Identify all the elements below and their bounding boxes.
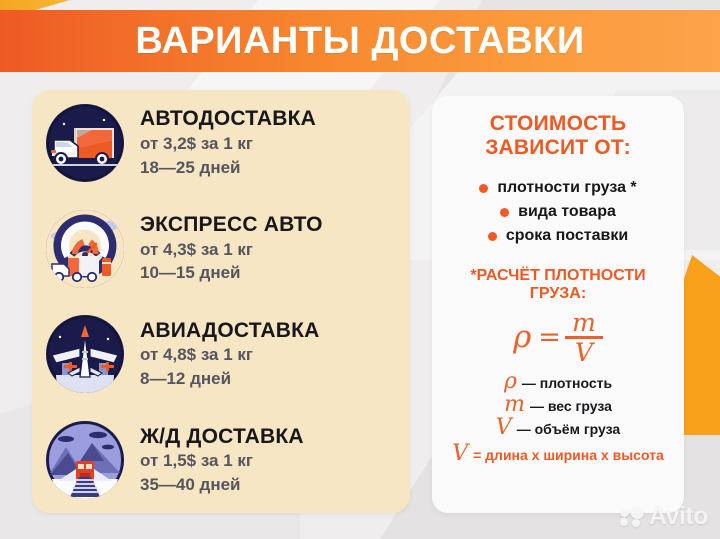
cost-factors-list: плотности груза * вида товара срока пост… xyxy=(442,179,674,245)
formula-fraction: m V xyxy=(565,310,603,365)
delivery-option-row[interactable]: АВТОДОСТАВКА от 3,2$ за 1 кг 18—25 дней xyxy=(32,90,410,196)
delivery-option-title: Ж/Д ДОСТАВКА xyxy=(140,425,304,449)
speedometer-truck-icon xyxy=(46,210,124,288)
header-banner: ВАРИАНТЫ ДОСТАВКИ xyxy=(0,10,720,72)
delivery-option-title: АВТОДОСТАВКА xyxy=(140,107,316,131)
list-item: плотности груза * xyxy=(442,179,674,197)
formula-equals-sign: = xyxy=(538,322,561,353)
cost-factor-label: срока поставки xyxy=(506,227,628,245)
delivery-option-text: Ж/Д ДОСТАВКА от 1,5$ за 1 кг 35—40 дней xyxy=(140,425,304,496)
delivery-option-duration: 8—12 дней xyxy=(140,368,320,390)
avito-logo-icon xyxy=(620,506,646,528)
delivery-option-row[interactable]: ЭКСПРЕСС АВТО от 4,3$ за 1 кг 10—15 дней xyxy=(32,196,410,302)
delivery-option-price: от 4,3$ за 1 кг xyxy=(140,239,323,261)
legend-symbol: m xyxy=(504,394,525,416)
formula-rho-symbol: ρ xyxy=(513,322,531,353)
formula-numerator: m xyxy=(572,310,596,336)
page-title: ВАРИАНТЫ ДОСТАВКИ xyxy=(135,20,584,63)
formula-legend: ρ — плотность m — вес груза V — объём гр… xyxy=(442,371,674,465)
cost-factors-card: СТОИМОСТЬ ЗАВИСИТ ОТ: плотности груза * … xyxy=(432,96,684,513)
legend-symbol: V xyxy=(496,417,512,439)
delivery-option-duration: 18—25 дней xyxy=(140,157,316,179)
formula-denominator: V xyxy=(575,339,593,365)
delivery-option-title: ЭКСПРЕСС АВТО xyxy=(140,213,323,237)
delivery-option-duration: 35—40 дней xyxy=(140,474,304,496)
delivery-option-text: АВТОДОСТАВКА от 3,2$ за 1 кг 18—25 дней xyxy=(140,107,316,178)
delivery-options-card: АВТОДОСТАВКА от 3,2$ за 1 кг 18—25 дней xyxy=(32,90,410,513)
delivery-option-title: АВИАДОСТАВКА xyxy=(140,319,320,343)
legend-description: — объём груза xyxy=(517,421,621,437)
bullet-dot-icon xyxy=(479,184,488,193)
avito-logo-dot xyxy=(620,518,628,526)
delivery-option-price: от 3,2$ за 1 кг xyxy=(140,133,316,155)
delivery-option-price: от 4,8$ за 1 кг xyxy=(140,344,320,366)
legend-item: m — вес груза xyxy=(442,394,674,416)
avito-logo-dot xyxy=(620,508,629,517)
delivery-option-text: АВИАДОСТАВКА от 4,8$ за 1 кг 8—12 дней xyxy=(140,319,320,390)
legend-symbol: ρ xyxy=(504,371,517,393)
legend-item: V — объём груза xyxy=(442,417,674,439)
volume-symbol: V xyxy=(452,443,468,465)
cost-factor-label: плотности груза * xyxy=(497,179,636,197)
legend-description: — вес груза xyxy=(530,398,612,414)
legend-item: ρ — плотность xyxy=(442,371,674,393)
avito-logo-dot xyxy=(632,519,640,527)
cost-panel-title-line2: ЗАВИСИТ ОТ: xyxy=(442,136,674,160)
delivery-option-row[interactable]: Ж/Д ДОСТАВКА от 1,5$ за 1 кг 35—40 дней xyxy=(32,407,410,513)
cost-panel-title-line1: СТОИМОСТЬ xyxy=(442,112,674,136)
infographic-canvas: ВАРИАНТЫ ДОСТАВКИ xyxy=(0,0,720,539)
bullet-dot-icon xyxy=(488,232,497,241)
delivery-option-duration: 10—15 дней xyxy=(140,262,323,284)
avito-logo-dot xyxy=(631,506,644,519)
delivery-option-row[interactable]: АВИАДОСТАВКА от 4,8$ за 1 кг 8—12 дней xyxy=(32,302,410,408)
list-item: вида товара xyxy=(442,203,674,221)
volume-formula-item: V = длина х ширина х высота xyxy=(442,443,674,465)
volume-description: = длина х ширина х высота xyxy=(473,447,664,463)
truck-icon xyxy=(46,104,124,182)
density-formula: ρ = m V xyxy=(442,310,674,365)
density-formula-heading-line1: *РАСЧЁТ ПЛОТНОСТИ xyxy=(442,267,674,285)
cost-factor-label: вида товара xyxy=(518,203,616,221)
avito-wordmark: Avito xyxy=(649,502,708,531)
avito-watermark: Avito xyxy=(620,502,708,531)
bullet-dot-icon xyxy=(500,208,509,217)
legend-description: — плотность xyxy=(522,375,612,391)
density-formula-heading-line2: ГРУЗА: xyxy=(442,285,674,303)
delivery-option-price: от 1,5$ за 1 кг xyxy=(140,450,304,472)
delivery-option-text: ЭКСПРЕСС АВТО от 4,3$ за 1 кг 10—15 дней xyxy=(140,213,323,284)
list-item: срока поставки xyxy=(442,227,674,245)
airplane-icon xyxy=(46,315,124,393)
train-mountains-icon xyxy=(46,421,124,499)
